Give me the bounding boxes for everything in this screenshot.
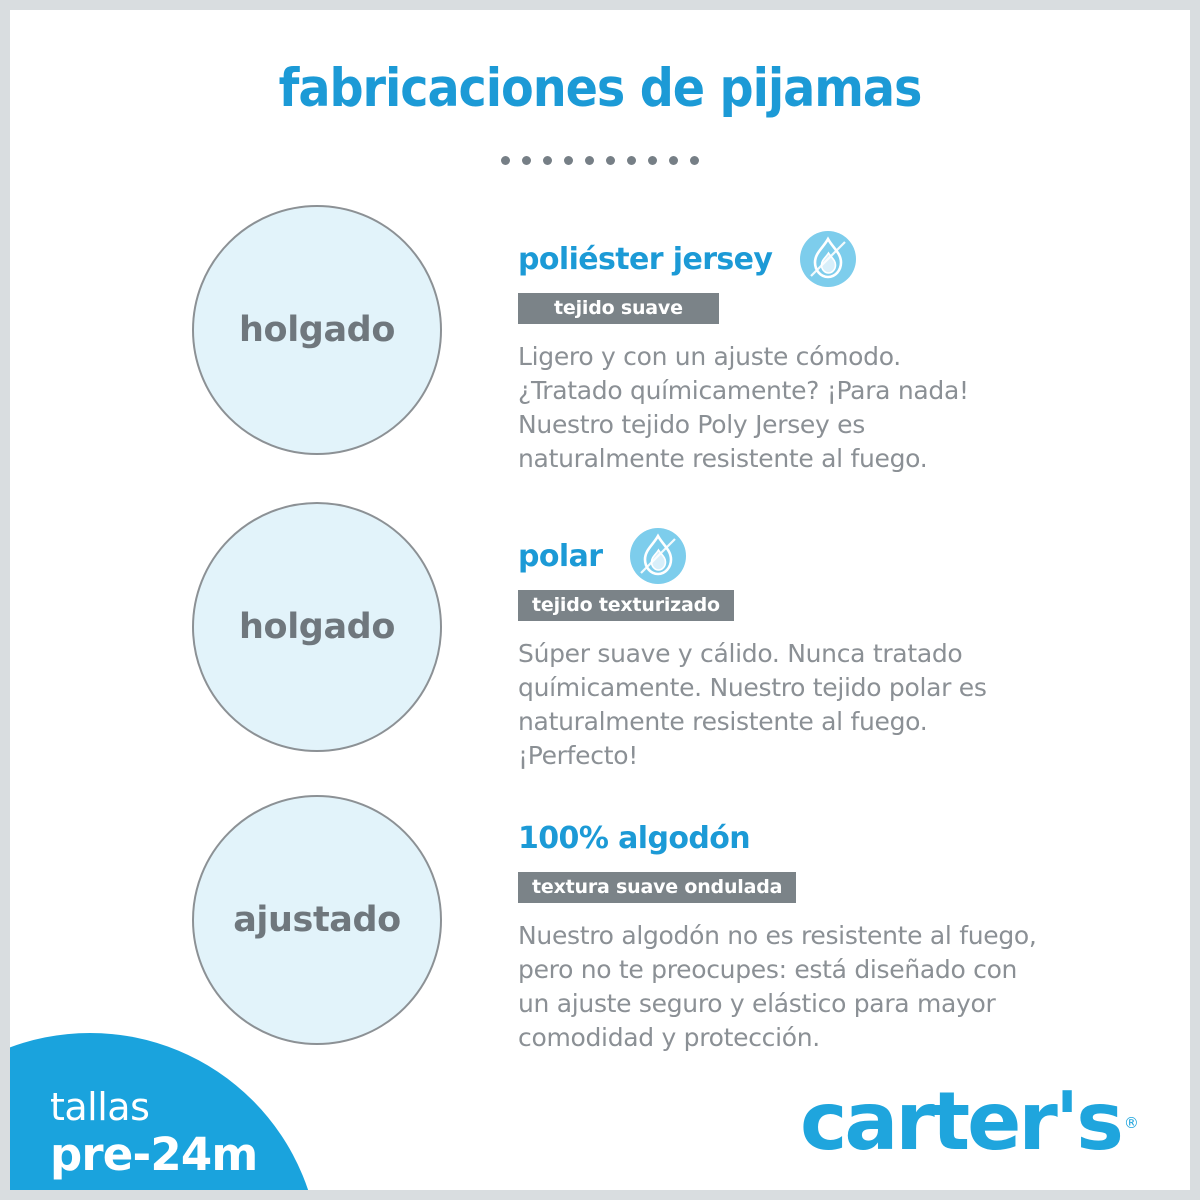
divider-dot: [606, 156, 615, 165]
carters-logo: carter's ®: [800, 1082, 1139, 1162]
infographic-page: fabricaciones de pijamas holgado poliést…: [0, 0, 1200, 1200]
fabric-heading-row: polar: [518, 530, 1118, 582]
fabric-badge: tejido texturizado: [518, 590, 734, 621]
divider-dot: [501, 156, 510, 165]
fit-circle: holgado: [192, 205, 442, 455]
fabric-description: Ligero y con un ajuste cómodo. ¿Tratado …: [518, 340, 1118, 476]
dot-divider: [10, 156, 1190, 165]
divider-dot: [648, 156, 657, 165]
page-title: fabricaciones de pijamas: [69, 58, 1131, 119]
fit-circle-label: ajustado: [233, 900, 401, 940]
sizes-value: pre-24m: [50, 1129, 300, 1181]
fit-circle: ajustado: [192, 795, 442, 1045]
divider-dot: [543, 156, 552, 165]
divider-dot: [564, 156, 573, 165]
divider-dot: [522, 156, 531, 165]
fabric-badge: tejido suave: [518, 293, 719, 324]
sizes-badge: tallas pre-24m: [10, 1033, 320, 1190]
fabric-description: Súper suave y cálido. Nunca tratado quím…: [518, 637, 1118, 773]
infographic-sheet: fabricaciones de pijamas holgado poliést…: [10, 10, 1190, 1190]
fabric-heading: 100% algodón: [518, 821, 750, 856]
fit-circle-label: holgado: [239, 310, 395, 350]
carters-logo-wordmark: carter's: [800, 1082, 1121, 1162]
fit-circle-label: holgado: [239, 607, 395, 647]
fabric-heading-row: 100% algodón: [518, 812, 1118, 864]
fabric-heading-row: poliéster jersey: [518, 233, 1118, 285]
divider-dot: [585, 156, 594, 165]
fabric-heading: polar: [518, 539, 602, 574]
divider-dot: [690, 156, 699, 165]
fabric-badge: textura suave ondulada: [518, 872, 796, 903]
fabric-heading: poliéster jersey: [518, 242, 772, 277]
fit-circle: holgado: [192, 502, 442, 752]
fabric-content: poliéster jersey tejido suave Ligero y c…: [518, 233, 1118, 476]
flame-no-fire-icon: [800, 231, 856, 287]
divider-dot: [627, 156, 636, 165]
fabric-description: Nuestro algodón no es resistente al fueg…: [518, 919, 1118, 1055]
sizes-badge-text: tallas pre-24m: [50, 1085, 300, 1181]
sizes-label: tallas: [50, 1085, 300, 1129]
divider-dot: [669, 156, 678, 165]
fabric-content: polar tejido texturizado Súper suave y c…: [518, 530, 1118, 773]
registered-trademark-icon: ®: [1124, 1116, 1139, 1131]
flame-no-fire-icon: [630, 528, 686, 584]
fabric-content: 100% algodón textura suave ondulada Nues…: [518, 812, 1118, 1055]
